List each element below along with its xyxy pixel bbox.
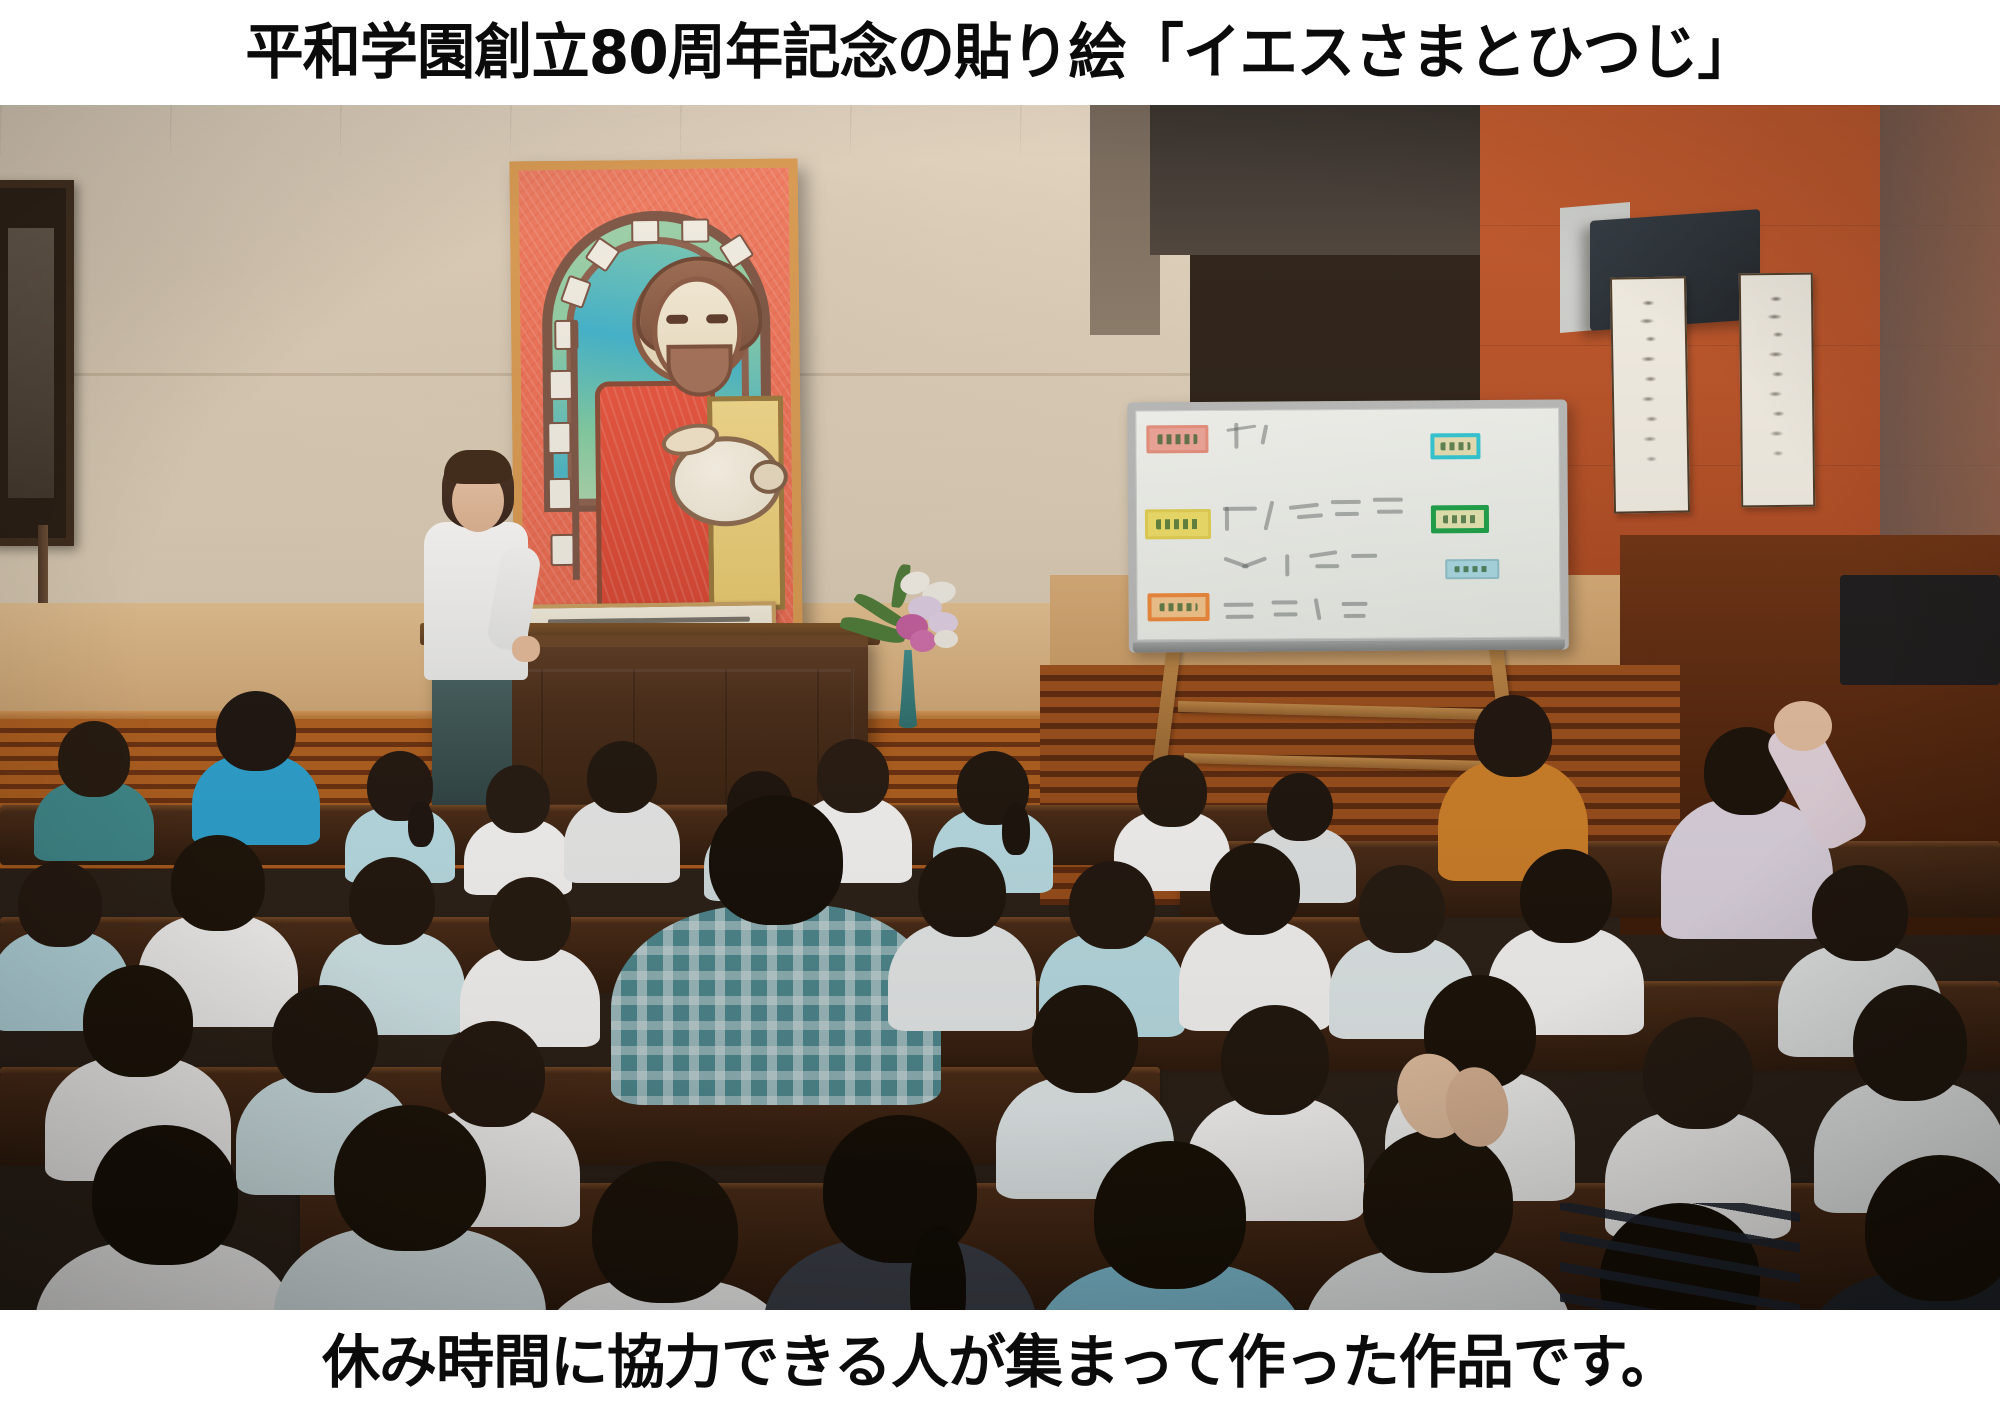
- audience-person: [200, 691, 312, 821]
- person-head: [1210, 843, 1300, 935]
- person-head: [1359, 865, 1445, 953]
- person-head: [1069, 861, 1155, 949]
- person-head: [83, 965, 193, 1077]
- audience-person-front: [1060, 1141, 1280, 1310]
- audience-adult-plaid-shirt: [636, 795, 916, 1085]
- chapel-assembly-photo: [0, 105, 2000, 1310]
- audience-area: [0, 105, 2000, 1310]
- person-head: [349, 857, 435, 945]
- audience-person: [1620, 1017, 1776, 1213]
- slide-root: 平和学園創立80周年記念の貼り絵「イエスさまとひつじ」: [0, 0, 2000, 1414]
- person-head: [92, 1125, 238, 1265]
- audience-person-front: [1830, 1155, 2000, 1310]
- person-head: [1600, 1203, 1760, 1310]
- caption-band: 休み時間に協力できる人が集まって作った作品です。: [0, 1310, 2000, 1414]
- person-head: [918, 847, 1006, 937]
- audience-person: [470, 877, 590, 1027]
- raised-hand: [1774, 701, 1832, 751]
- audience-person-front: [560, 1161, 770, 1310]
- audience-person: [470, 765, 566, 875]
- person-head: [1221, 1005, 1329, 1115]
- person-head: [272, 985, 378, 1093]
- title-band: 平和学園創立80周年記念の貼り絵「イエスさまとひつじ」: [0, 0, 2000, 105]
- person-head: [1363, 1129, 1513, 1273]
- person-head: [709, 795, 843, 925]
- person-head: [58, 721, 130, 797]
- audience-person: [40, 721, 148, 841]
- person-head: [1812, 865, 1908, 961]
- person-head: [1474, 695, 1552, 777]
- audience-adult-orange-shirt: [1448, 695, 1578, 865]
- audience-person: [352, 751, 448, 863]
- person-head: [216, 691, 296, 771]
- person-head: [1853, 985, 1967, 1101]
- person-head: [1267, 773, 1333, 841]
- person-head: [1032, 985, 1138, 1093]
- person-head: [1094, 1141, 1246, 1289]
- audience-person-front: [1330, 1129, 1546, 1310]
- person-head: [1520, 849, 1612, 943]
- person-head: [18, 861, 102, 947]
- person-head: [489, 877, 571, 961]
- person-head: [1643, 1017, 1753, 1129]
- audience-person-front: [60, 1125, 270, 1310]
- audience-person-front: [790, 1115, 1010, 1310]
- person-head: [592, 1161, 738, 1303]
- person-head: [1137, 755, 1207, 827]
- audience-person-front-striped: [1560, 1203, 1800, 1310]
- photo-caption: 休み時間に協力できる人が集まって作った作品です。: [322, 1333, 1678, 1391]
- audience-person: [900, 847, 1024, 1009]
- person-head: [171, 835, 265, 931]
- person-head: [1865, 1155, 2000, 1301]
- person-head: [334, 1105, 486, 1251]
- page-title: 平和学園創立80周年記念の貼り絵「イエスさまとひつじ」: [245, 23, 1754, 83]
- audience-person: [1190, 843, 1320, 1011]
- audience-person-front: [300, 1105, 520, 1310]
- person-ponytail: [408, 801, 434, 847]
- person-head: [486, 765, 550, 833]
